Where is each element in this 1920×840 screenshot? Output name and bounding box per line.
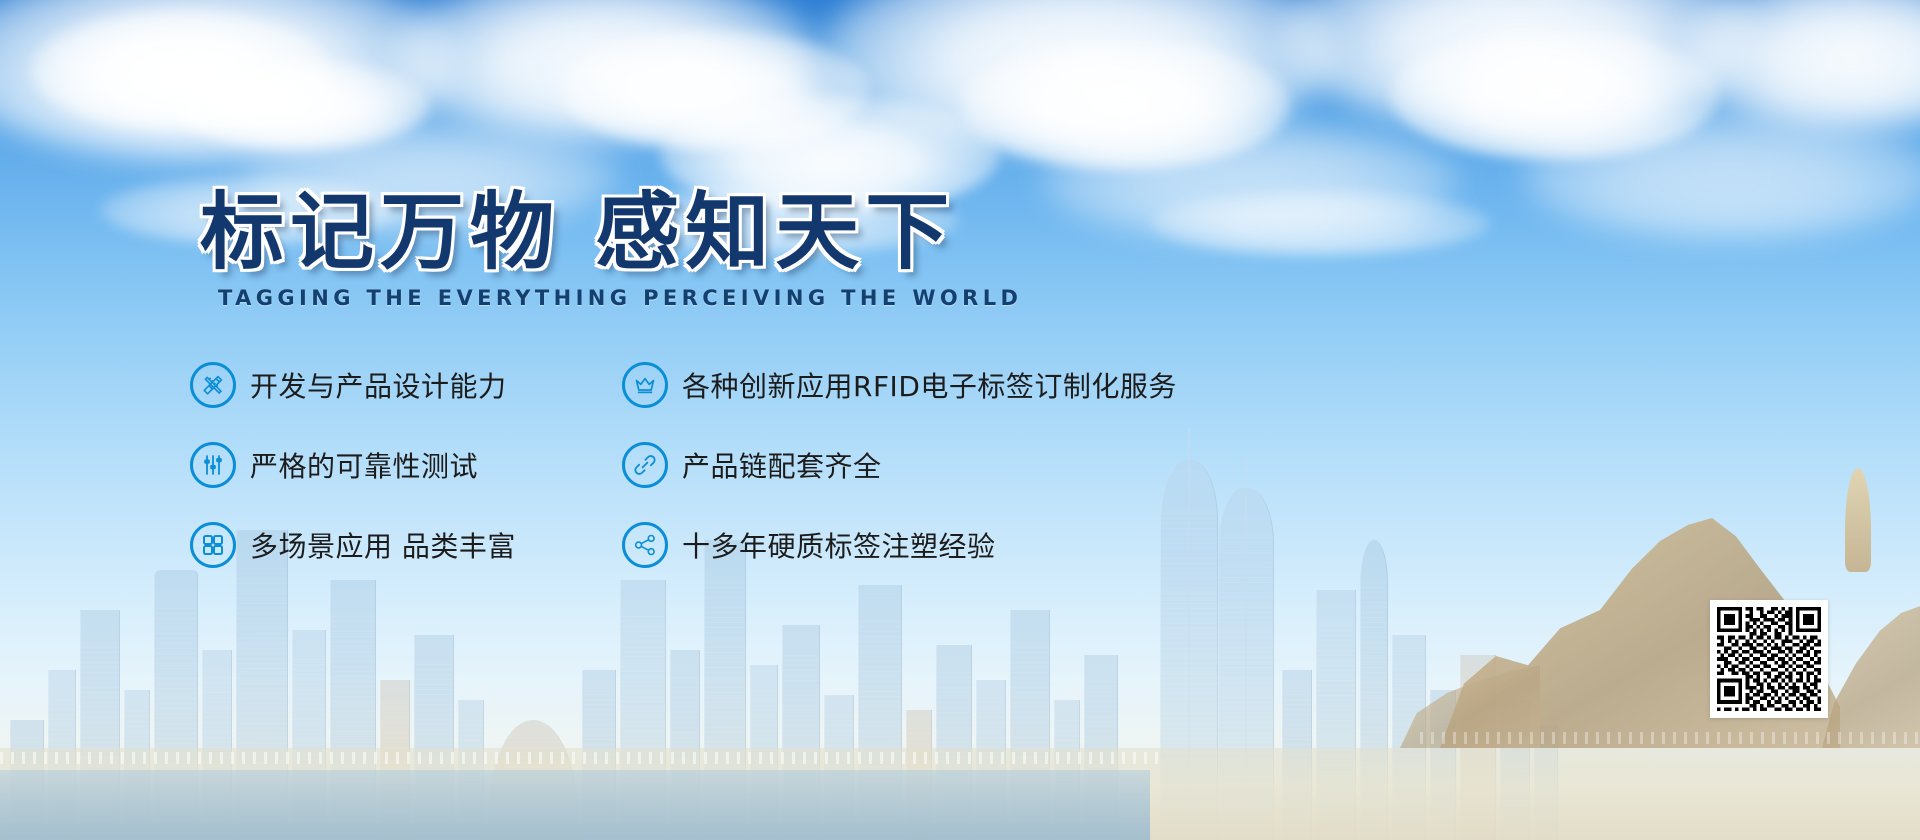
feature-label: 各种创新应用RFID电子标签订制化服务 [682, 365, 1177, 405]
crown-icon [622, 362, 668, 408]
share-icon [622, 522, 668, 568]
feature-label: 开发与产品设计能力 [250, 365, 507, 405]
feature-label: 严格的可靠性测试 [250, 445, 478, 485]
feature-item: 开发与产品设计能力 [190, 360, 516, 410]
feature-label: 多场景应用 品类丰富 [250, 525, 516, 565]
sliders-icon [190, 442, 236, 488]
link-icon [622, 442, 668, 488]
qr-code-canvas [1717, 607, 1821, 711]
pencil-ruler-icon [190, 362, 236, 408]
banner-content: 标记万物 感知天下 TAGGING THE EVERYTHING PERCEIV… [0, 0, 1920, 840]
feature-item: 严格的可靠性测试 [190, 440, 516, 490]
promo-banner: 标记万物 感知天下 TAGGING THE EVERYTHING PERCEIV… [0, 0, 1920, 840]
feature-item: 产品链配套齐全 [622, 440, 1177, 490]
feature-column-left: 开发与产品设计能力 [190, 360, 516, 600]
qr-code[interactable] [1710, 600, 1828, 718]
feature-label: 十多年硬质标签注塑经验 [682, 525, 996, 565]
feature-item: 各种创新应用RFID电子标签订制化服务 [622, 360, 1177, 410]
page-subtitle: TAGGING THE EVERYTHING PERCEIVING THE WO… [218, 286, 1022, 310]
feature-column-right: 各种创新应用RFID电子标签订制化服务 产品链配套齐全 [622, 360, 1177, 600]
feature-item: 十多年硬质标签注塑经验 [622, 520, 1177, 570]
feature-label: 产品链配套齐全 [682, 445, 882, 485]
page-title: 标记万物 感知天下 [200, 165, 955, 286]
grid-icon [190, 522, 236, 568]
feature-item: 多场景应用 品类丰富 [190, 520, 516, 570]
